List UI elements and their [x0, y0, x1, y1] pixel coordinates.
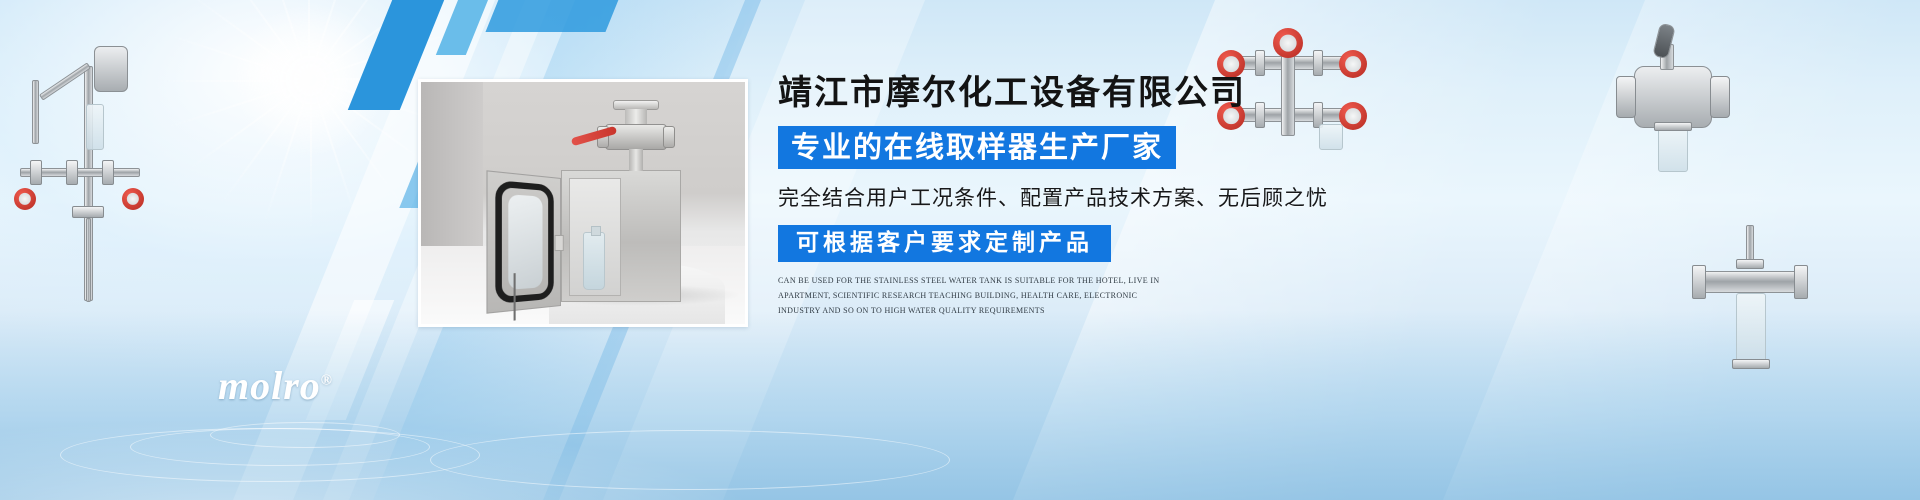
promo-banner: 靖江市摩尔化工设备有限公司 专业的在线取样器生产厂家 完全结合用户工况条件、配置… — [0, 0, 1920, 500]
decor-chevron — [436, 0, 504, 55]
sampler-valve-head — [597, 100, 675, 174]
sub-headline: 完全结合用户工况条件、配置产品技术方案、无后顾之忧 — [778, 182, 1398, 212]
custom-product-text: 可根据客户要求定制产品 — [796, 231, 1093, 255]
company-name: 靖江市摩尔化工设备有限公司 — [778, 74, 1398, 115]
english-description: CAN BE USED FOR THE STAINLESS STEEL WATE… — [778, 274, 1176, 318]
headline-highlight-bar: 专业的在线取样器生产厂家 — [778, 126, 1176, 169]
custom-product-bar: 可根据客户要求定制产品 — [778, 225, 1111, 262]
photo-inner — [421, 82, 745, 324]
cabinet-door — [486, 170, 561, 314]
registered-mark-icon: ® — [321, 373, 333, 389]
banner-text-block: 靖江市摩尔化工设备有限公司 专业的在线取样器生产厂家 完全结合用户工况条件、配置… — [778, 74, 1398, 319]
sunburst-icon — [160, 0, 460, 230]
lever-valve-icon — [1600, 22, 1750, 212]
brand-logo-text: molro — [218, 363, 321, 408]
brand-logo: molro® — [218, 366, 333, 406]
sample-bottle — [583, 232, 605, 290]
sunburst-core — [235, 5, 385, 155]
sight-glass-valve-icon — [1690, 225, 1820, 405]
door-latch — [555, 235, 564, 251]
headline-text: 专业的在线取样器生产厂家 — [791, 132, 1163, 162]
decor-band — [1411, 0, 1920, 500]
sampling-valve-assembly-icon — [10, 18, 160, 308]
decor-chevron — [485, 0, 634, 32]
door-gasket — [495, 180, 553, 304]
door-chain — [514, 273, 516, 320]
sampler-cabinet-photo — [418, 79, 748, 327]
